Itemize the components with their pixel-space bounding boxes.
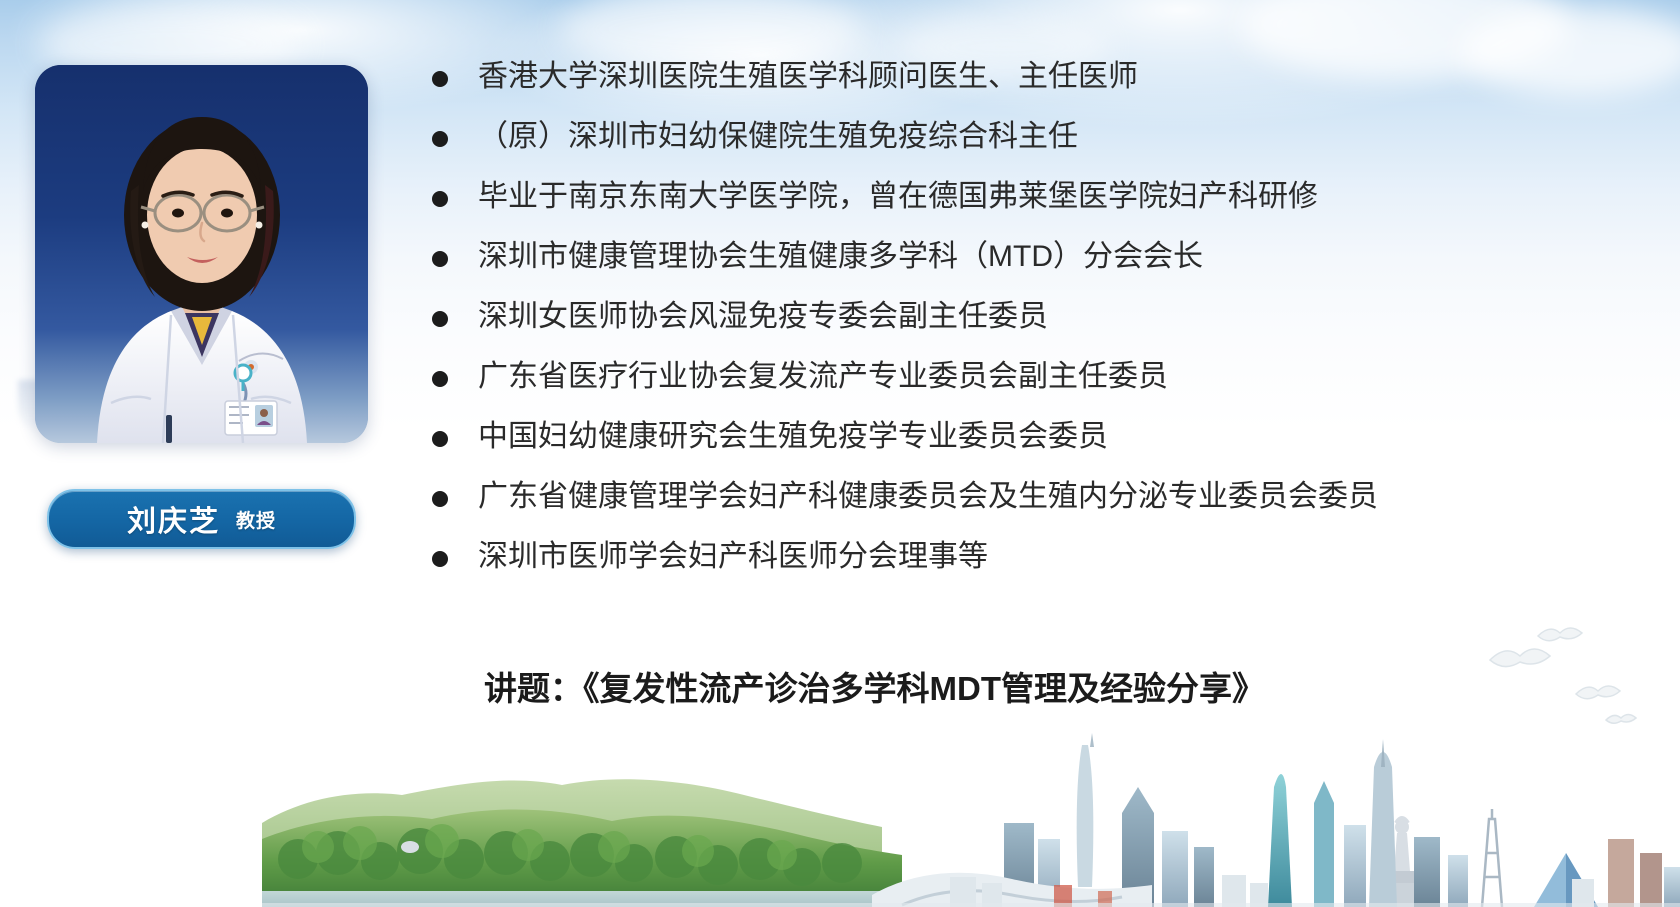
cityscape-illustration — [262, 727, 1680, 907]
bullet-dot-icon — [432, 431, 448, 447]
credentials-list: 香港大学深圳医院生殖医学科顾问医生、主任医师 （原）深圳市妇幼保健院生殖免疫综合… — [432, 55, 1657, 595]
list-item: 广东省健康管理学会妇产科健康委员会及生殖内分泌专业委员会委员 — [432, 475, 1657, 535]
credential-text: 广东省健康管理学会妇产科健康委员会及生殖内分泌专业委员会委员 — [478, 475, 1378, 519]
bullet-dot-icon — [432, 71, 448, 87]
list-item: 深圳市健康管理协会生殖健康多学科（MTD）分会会长 — [432, 235, 1657, 295]
bullet-dot-icon — [432, 371, 448, 387]
speaker-photo — [35, 65, 368, 443]
bullet-dot-icon — [432, 551, 448, 567]
list-item: 中国妇幼健康研究会生殖免疫学专业委员会委员 — [432, 415, 1657, 475]
credential-text: 香港大学深圳医院生殖医学科顾问医生、主任医师 — [478, 55, 1138, 99]
birds-icon — [1480, 620, 1650, 740]
bullet-dot-icon — [432, 131, 448, 147]
list-item: 广东省医疗行业协会复发流产专业委员会副主任委员 — [432, 355, 1657, 415]
speaker-name: 刘庆芝 — [127, 498, 220, 540]
bullet-dot-icon — [432, 251, 448, 267]
credential-text: 深圳市医师学会妇产科医师分会理事等 — [478, 535, 988, 579]
list-item: 深圳市医师学会妇产科医师分会理事等 — [432, 535, 1657, 595]
lecture-title: 讲题：《复发性流产诊治多学科MDT管理及经验分享》 — [484, 662, 1265, 710]
credential-text: 深圳市健康管理协会生殖健康多学科（MTD）分会会长 — [478, 235, 1203, 279]
credential-text: （原）深圳市妇幼保健院生殖免疫综合科主任 — [478, 115, 1078, 159]
bullet-dot-icon — [432, 311, 448, 327]
list-item: 毕业于南京东南大学医学院，曾在德国弗莱堡医学院妇产科研修 — [432, 175, 1657, 235]
list-item: 深圳女医师协会风湿免疫专委会副主任委员 — [432, 295, 1657, 355]
list-item: （原）深圳市妇幼保健院生殖免疫综合科主任 — [432, 115, 1657, 175]
bullet-dot-icon — [432, 491, 448, 507]
credential-text: 毕业于南京东南大学医学院，曾在德国弗莱堡医学院妇产科研修 — [478, 175, 1318, 219]
list-item: 香港大学深圳医院生殖医学科顾问医生、主任医师 — [432, 55, 1657, 115]
credential-text: 深圳女医师协会风湿免疫专委会副主任委员 — [478, 295, 1048, 339]
credential-text: 广东省医疗行业协会复发流产专业委员会副主任委员 — [478, 355, 1168, 399]
speaker-name-badge: 刘庆芝 教授 — [47, 489, 356, 549]
speaker-photo-container — [35, 65, 368, 443]
speaker-title: 教授 — [236, 506, 276, 533]
bullet-dot-icon — [432, 191, 448, 207]
presentation-slide: 刘庆芝 教授 香港大学深圳医院生殖医学科顾问医生、主任医师 （原）深圳市妇幼保健… — [0, 0, 1680, 907]
credential-text: 中国妇幼健康研究会生殖免疫学专业委员会委员 — [478, 415, 1108, 459]
